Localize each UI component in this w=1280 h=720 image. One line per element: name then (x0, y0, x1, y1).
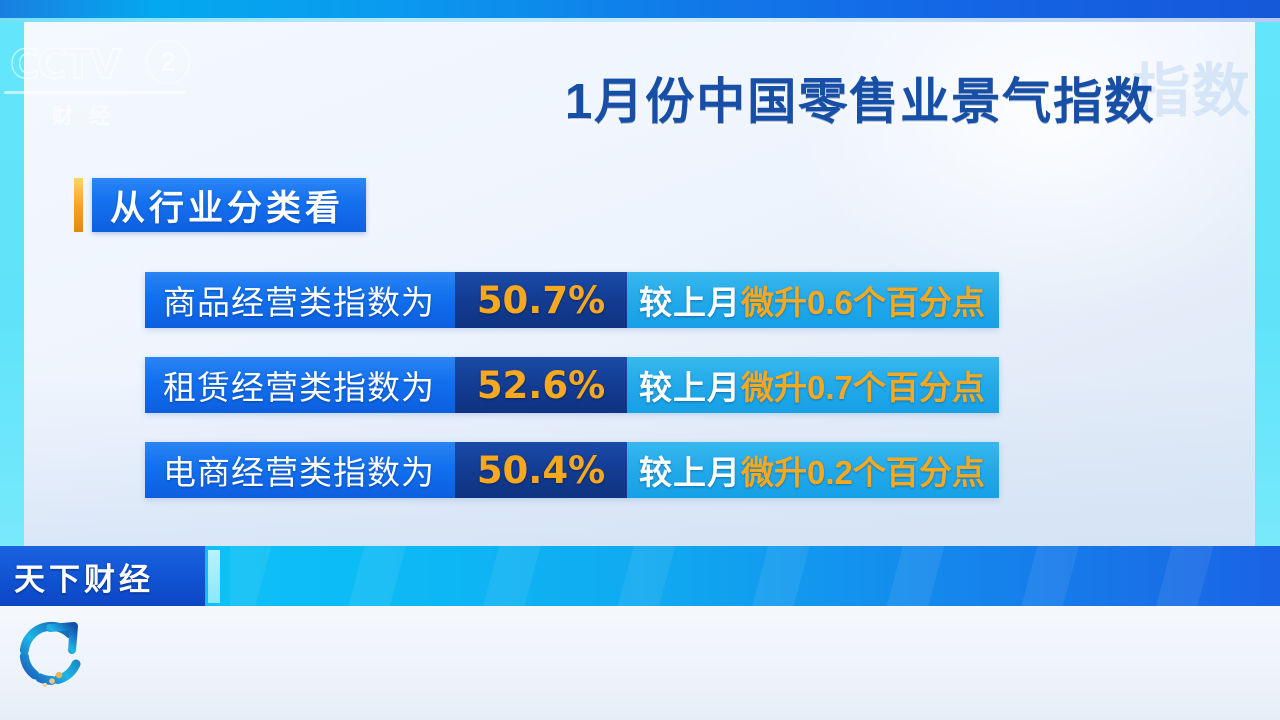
left-edge-strip (0, 22, 24, 546)
program-name-tag: 天下财经 (0, 546, 205, 606)
row-value-cell: 52.6% (455, 357, 627, 413)
row-note-prefix: 较上月 (639, 446, 741, 494)
row-value-text: 50.4% (477, 449, 605, 492)
row-value-cell: 50.7% (455, 272, 627, 328)
badge-accent-bar (74, 178, 83, 232)
row-label-cell: 租赁经营类指数为 (145, 357, 455, 413)
row-note-cell: 较上月 微升0.6个百分点 (627, 272, 999, 328)
row-label-text: 电商经营类指数为 (163, 446, 435, 494)
data-rows: 商品经营类指数为 50.7% 较上月 微升0.6个百分点 租赁经营类指数为 52… (145, 272, 999, 527)
table-row: 租赁经营类指数为 52.6% 较上月 微升0.7个百分点 (145, 357, 999, 413)
row-value-text: 50.7% (477, 279, 605, 322)
badge-box: 从行业分类看 (92, 178, 366, 232)
caption-strip (0, 606, 1280, 720)
lower-bar-texture (230, 546, 1280, 606)
row-label-cell: 商品经营类指数为 (145, 272, 455, 328)
row-value-text: 52.6% (477, 364, 605, 407)
table-row: 商品经营类指数为 50.7% 较上月 微升0.6个百分点 (145, 272, 999, 328)
row-note-accent: 微升0.2个百分点 (741, 446, 985, 494)
row-note-accent: 微升0.7个百分点 (741, 361, 985, 409)
row-note-cell: 较上月 微升0.7个百分点 (627, 357, 999, 413)
row-label-text: 商品经营类指数为 (163, 276, 435, 324)
row-note-prefix: 较上月 (639, 361, 741, 409)
row-label-text: 租赁经营类指数为 (163, 361, 435, 409)
row-note-accent: 微升0.6个百分点 (741, 276, 985, 324)
row-label-cell: 电商经营类指数为 (145, 442, 455, 498)
row-value-cell: 50.4% (455, 442, 627, 498)
row-note-prefix: 较上月 (639, 276, 741, 324)
program-name-text: 天下财经 (14, 554, 154, 599)
broadcast-frame: CCTV 2 财经 指数 1月份中国零售业景气指数 从行业分类看 商品经营类指数… (0, 0, 1280, 720)
right-edge-strip (1255, 22, 1280, 546)
row-note-cell: 较上月 微升0.2个百分点 (627, 442, 999, 498)
section-badge-label: 从行业分类看 (110, 180, 344, 231)
lower-third-bar: 天下财经 (0, 546, 1280, 606)
page-title: 1月份中国零售业景气指数 (565, 62, 1155, 133)
section-badge: 从行业分类看 (74, 178, 366, 232)
table-row: 电商经营类指数为 50.4% 较上月 微升0.2个百分点 (145, 442, 999, 498)
cctv-circular-arrow-logo (12, 612, 94, 698)
program-tag-divider (208, 550, 220, 603)
